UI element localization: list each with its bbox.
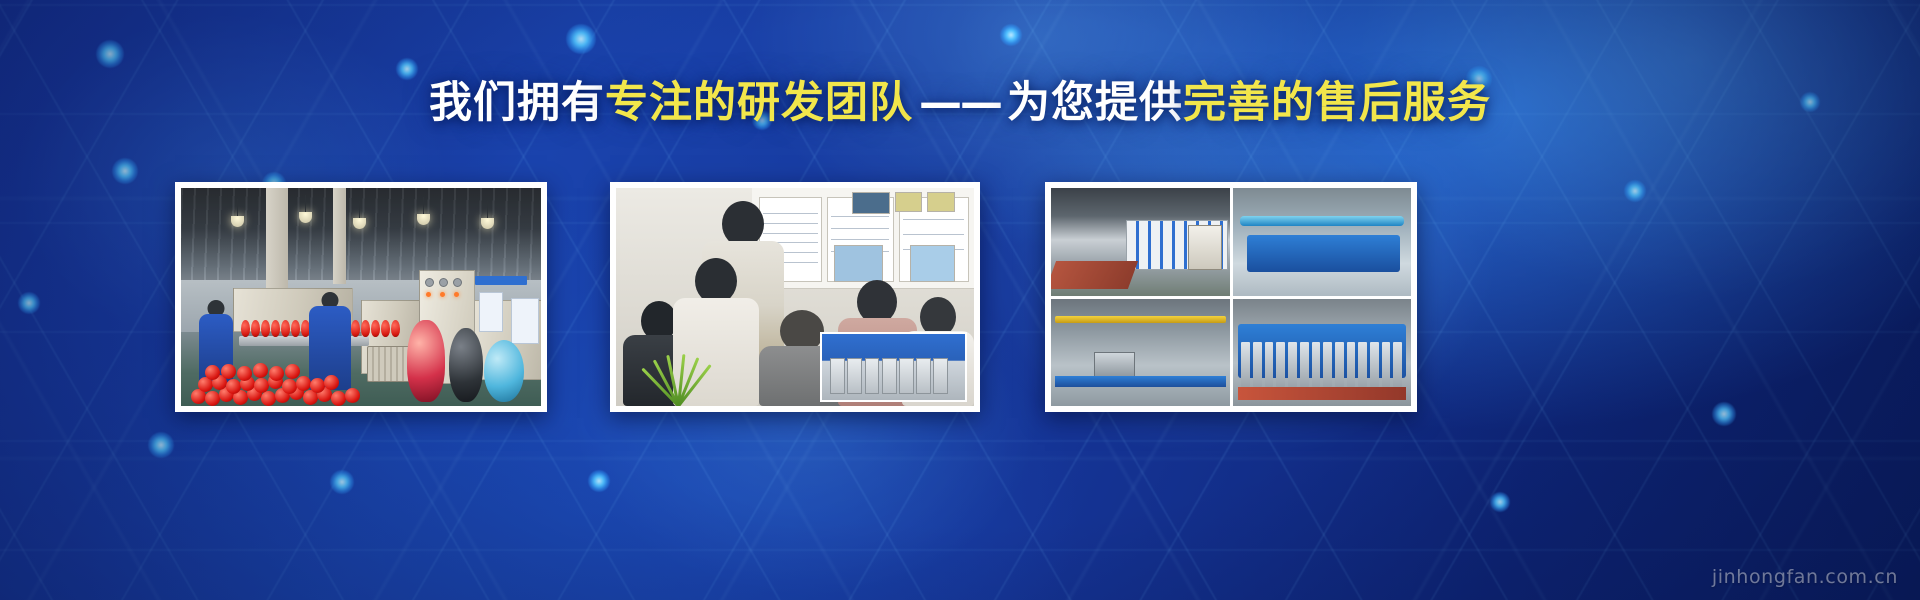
site-watermark: jinhongfan.com.cn xyxy=(1712,566,1898,588)
panel-led-icon xyxy=(454,292,459,297)
photo-production-line[interactable] xyxy=(175,182,547,412)
collage-cell-coating-line xyxy=(1051,188,1230,296)
collage-cell-conveyor xyxy=(1051,299,1230,407)
photo-equipment-collage-image xyxy=(1051,188,1411,406)
foreground-plant xyxy=(630,341,723,406)
posted-notice xyxy=(479,292,503,332)
headline-dash: —— xyxy=(913,78,1007,129)
collage-cell-blue-oven xyxy=(1233,188,1412,296)
posted-notice xyxy=(511,298,539,344)
headline-segment-4: 为您提供 xyxy=(1007,78,1183,128)
poster-thumbnail xyxy=(927,192,954,211)
machine-label xyxy=(475,276,527,285)
glass-vase-black xyxy=(449,328,483,402)
panel-knob-icon xyxy=(439,278,448,287)
poster-thumbnail xyxy=(910,245,955,282)
exhaust-duct xyxy=(266,188,288,296)
panel-led-icon xyxy=(440,292,445,297)
equipment-inset-photo xyxy=(820,332,967,401)
photo-equipment-collage[interactable] xyxy=(1045,182,1417,412)
headline-segment-5: 完善的售后服务 xyxy=(1183,78,1491,128)
poster-thumbnail xyxy=(852,192,890,214)
poster-thumbnail xyxy=(834,245,883,282)
glass-vase-blue xyxy=(484,340,524,402)
photo-team-meeting-image xyxy=(616,188,974,406)
red-ball-pile xyxy=(189,364,399,406)
exhaust-duct xyxy=(333,188,346,284)
headline-segment-1: 我们拥有 xyxy=(429,78,605,128)
photo-team-meeting[interactable] xyxy=(610,182,980,412)
promo-banner: 我们拥有专注的研发团队——为您提供完善的售后服务 xyxy=(0,0,1920,600)
poster-thumbnail xyxy=(895,192,922,211)
collage-cell-hanging-line xyxy=(1233,299,1412,407)
panel-led-icon xyxy=(426,292,431,297)
photo-production-line-image xyxy=(181,188,541,406)
panel-knob-icon xyxy=(453,278,462,287)
headline: 我们拥有专注的研发团队——为您提供完善的售后服务 xyxy=(0,78,1920,129)
headline-segment-2: 专注的研发团队 xyxy=(605,78,913,128)
glass-vase-red xyxy=(407,320,445,402)
panel-knob-icon xyxy=(425,278,434,287)
